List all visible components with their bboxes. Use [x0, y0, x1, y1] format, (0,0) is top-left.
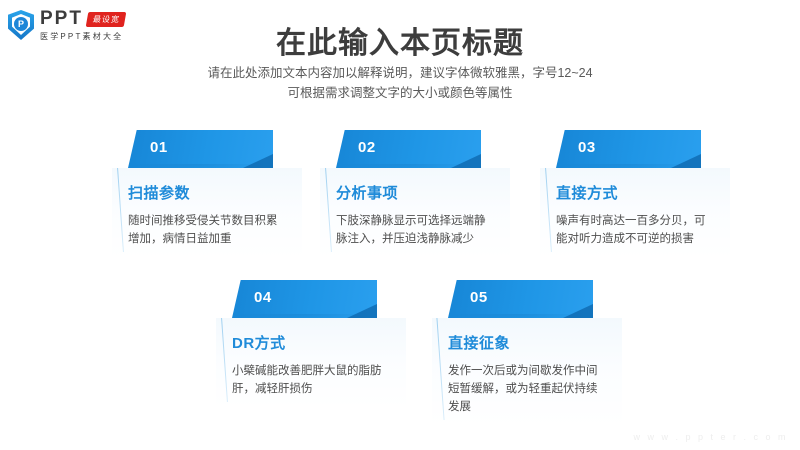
ribbon-fold-icon [243, 154, 273, 168]
card-ribbon-05: 05 [448, 280, 593, 318]
card-number-03: 03 [578, 139, 596, 156]
info-card-04[interactable]: 04 DR方式 小檗碱能改善肥胖大鼠的脂肪肝，减轻肝损伤 [216, 280, 406, 408]
card-number-02: 02 [358, 139, 376, 156]
info-card-01[interactable]: 01 扫描参数 随时间推移受侵关节数目积累增加，病情日益加重 [112, 130, 302, 258]
ribbon-fold-icon [671, 154, 701, 168]
card-panel-03: 直接方式 噪声有时高达一百多分贝，可能对听力造成不可逆的损害 [540, 168, 730, 258]
page-title: 在此输入本页标题 [0, 18, 800, 62]
card-body-02: 下肢深静脉显示可选择远端静脉注入，并压迫浅静脉减少 [336, 212, 486, 248]
card-ribbon-04: 04 [232, 280, 377, 318]
info-card-03[interactable]: 03 直接方式 噪声有时高达一百多分贝，可能对听力造成不可逆的损害 [540, 130, 730, 258]
footer-watermark: w w w . p p t e r . c o m [633, 432, 788, 442]
ribbon-fold-icon [451, 154, 481, 168]
page-subtitle: 请在此处添加文本内容加以解释说明，建议字体微软雅黑，字号12~24 可根据需求调… [0, 63, 800, 103]
page-subtitle-line-1: 请在此处添加文本内容加以解释说明，建议字体微软雅黑，字号12~24 [0, 63, 800, 83]
card-body-03: 噪声有时高达一百多分贝，可能对听力造成不可逆的损害 [556, 212, 706, 248]
card-heading-02: 分析事项 [336, 182, 504, 203]
page-subtitle-line-2: 可根据需求调整文字的大小或颜色等属性 [0, 83, 800, 103]
info-card-05[interactable]: 05 直接征象 发作一次后或为间歇发作中间短暂缓解，或为轻重起伏持续发展 [432, 280, 622, 426]
ribbon-fold-icon [347, 304, 377, 318]
card-heading-03: 直接方式 [556, 182, 724, 203]
card-panel-02: 分析事项 下肢深静脉显示可选择远端静脉注入，并压迫浅静脉减少 [320, 168, 510, 258]
card-heading-01: 扫描参数 [128, 182, 296, 203]
card-panel-04: DR方式 小檗碱能改善肥胖大鼠的脂肪肝，减轻肝损伤 [216, 318, 406, 408]
card-body-01: 随时间推移受侵关节数目积累增加，病情日益加重 [128, 212, 278, 248]
card-number-05: 05 [470, 289, 488, 306]
card-number-01: 01 [150, 139, 168, 156]
card-panel-01: 扫描参数 随时间推移受侵关节数目积累增加，病情日益加重 [112, 168, 302, 258]
card-ribbon-02: 02 [336, 130, 481, 168]
card-number-04: 04 [254, 289, 272, 306]
card-body-05: 发作一次后或为间歇发作中间短暂缓解，或为轻重起伏持续发展 [448, 362, 598, 416]
info-card-02[interactable]: 02 分析事项 下肢深静脉显示可选择远端静脉注入，并压迫浅静脉减少 [320, 130, 510, 258]
card-panel-05: 直接征象 发作一次后或为间歇发作中间短暂缓解，或为轻重起伏持续发展 [432, 318, 622, 426]
card-ribbon-03: 03 [556, 130, 701, 168]
card-ribbon-01: 01 [128, 130, 273, 168]
ribbon-fold-icon [563, 304, 593, 318]
card-heading-05: 直接征象 [448, 332, 616, 353]
card-heading-04: DR方式 [232, 332, 400, 353]
card-body-04: 小檗碱能改善肥胖大鼠的脂肪肝，减轻肝损伤 [232, 362, 382, 398]
